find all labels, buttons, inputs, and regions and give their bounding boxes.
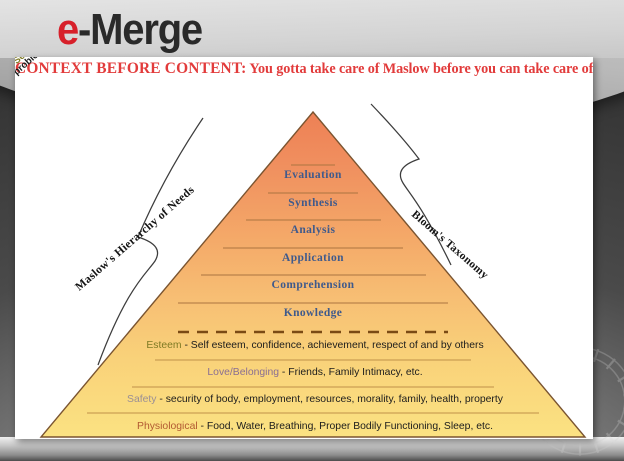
blooms-level-evaluation: Evaluation: [284, 169, 342, 181]
blooms-level-knowledge: Knowledge: [284, 307, 343, 319]
pyramid-diagram: Evaluation Synthesis Analysis Applicatio…: [15, 57, 593, 439]
logo-band: e-Merge: [0, 0, 624, 58]
blooms-level-analysis: Analysis: [291, 224, 336, 236]
logo-prefix: e: [57, 6, 78, 54]
emerge-logo: e-Merge: [57, 6, 202, 55]
maslow-desc-esteem: - Self esteem, confidence, achievement, …: [182, 340, 484, 351]
maslow-level-physiological: Physiological - Food, Water, Breathing, …: [137, 421, 493, 432]
maslow-key-safety: Safety: [127, 394, 156, 405]
pyramid-graphic: [15, 57, 593, 439]
maslow-desc-love-belonging: - Friends, Family Intimacy, etc.: [279, 367, 423, 378]
blooms-level-application: Application: [282, 252, 344, 264]
maslow-key-esteem: Esteem: [146, 340, 181, 351]
maslow-key-physiological: Physiological: [137, 421, 198, 432]
logo-suffix: -Merge: [78, 6, 202, 54]
blooms-level-synthesis: Synthesis: [288, 197, 338, 209]
slide-canvas: CONTEXT BEFORE CONTENT: You gotta take c…: [15, 57, 593, 439]
blooms-level-comprehension: Comprehension: [272, 279, 355, 291]
maslow-level-safety: Safety - security of body, employment, r…: [127, 394, 503, 405]
maslow-level-esteem: Esteem - Self esteem, confidence, achiev…: [146, 340, 483, 351]
maslow-desc-physiological: - Food, Water, Breathing, Proper Bodily …: [198, 421, 493, 432]
maslow-desc-safety: - security of body, employment, resource…: [156, 394, 502, 405]
maslow-key-love-belonging: Love/Belonging: [207, 367, 279, 378]
maslow-level-love-belonging: Love/Belonging - Friends, Family Intimac…: [207, 367, 422, 378]
